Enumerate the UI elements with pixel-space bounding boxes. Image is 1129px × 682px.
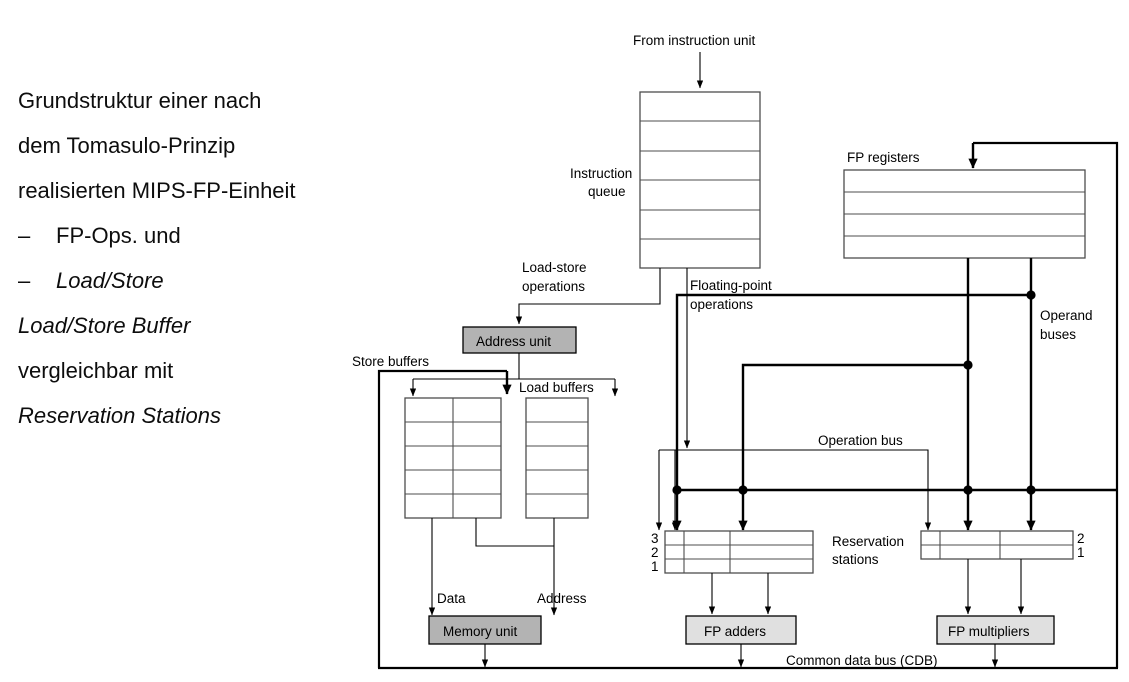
- store-buffer-address-merge: [476, 518, 554, 546]
- adder-rs-index-2: 2: [651, 545, 659, 560]
- operand-buses-label-line1: Operand: [1040, 308, 1093, 323]
- junction-dot: [963, 360, 972, 369]
- reservation-stations-label-line1: Reservation: [832, 534, 904, 549]
- adder-rs-index-3: 3: [651, 531, 659, 546]
- memory-unit-label: Memory unit: [443, 624, 518, 639]
- fp-registers-label: FP registers: [847, 150, 920, 165]
- load-store-operations-path: [519, 268, 660, 324]
- reservation-stations-label-line2: stations: [832, 552, 879, 567]
- operation-bus-label: Operation bus: [818, 433, 903, 448]
- store-buffers-label: Store buffers: [352, 354, 429, 369]
- common-data-bus-label: Common data bus (CDB): [786, 653, 938, 668]
- operand-bus-b-branch: [677, 295, 1031, 530]
- junction-dot: [1026, 290, 1035, 299]
- load-buffers-label: Load buffers: [519, 380, 594, 395]
- tomasulo-architecture-diagram: From instruction unit Instruction queue …: [0, 0, 1129, 682]
- adder-reservation-stations-box: [665, 531, 813, 573]
- from-instruction-unit-label: From instruction unit: [633, 33, 756, 48]
- multiplier-rs-index-1: 1: [1077, 545, 1085, 560]
- operand-buses-label-line2: buses: [1040, 327, 1076, 342]
- instruction-queue-label-line1: Instruction: [570, 166, 632, 181]
- load-store-operations-label-line1: Load-store: [522, 260, 587, 275]
- multiplier-rs-index-2: 2: [1077, 531, 1085, 546]
- address-unit-label: Address unit: [476, 334, 551, 349]
- floating-point-operations-label-line2: operations: [690, 297, 753, 312]
- slide-root: Grundstruktur einer nach dem Tomasulo-Pr…: [0, 0, 1129, 682]
- instruction-queue-label-line2: queue: [588, 184, 626, 199]
- fp-multipliers-label: FP multipliers: [948, 624, 1030, 639]
- load-buffers-box: [526, 398, 588, 518]
- load-store-operations-label-line2: operations: [522, 279, 585, 294]
- fp-adders-label: FP adders: [704, 624, 766, 639]
- address-label: Address: [537, 591, 587, 606]
- floating-point-operations-label-line1: Floating-point: [690, 278, 772, 293]
- data-label: Data: [437, 591, 466, 606]
- adder-rs-index-1: 1: [651, 559, 659, 574]
